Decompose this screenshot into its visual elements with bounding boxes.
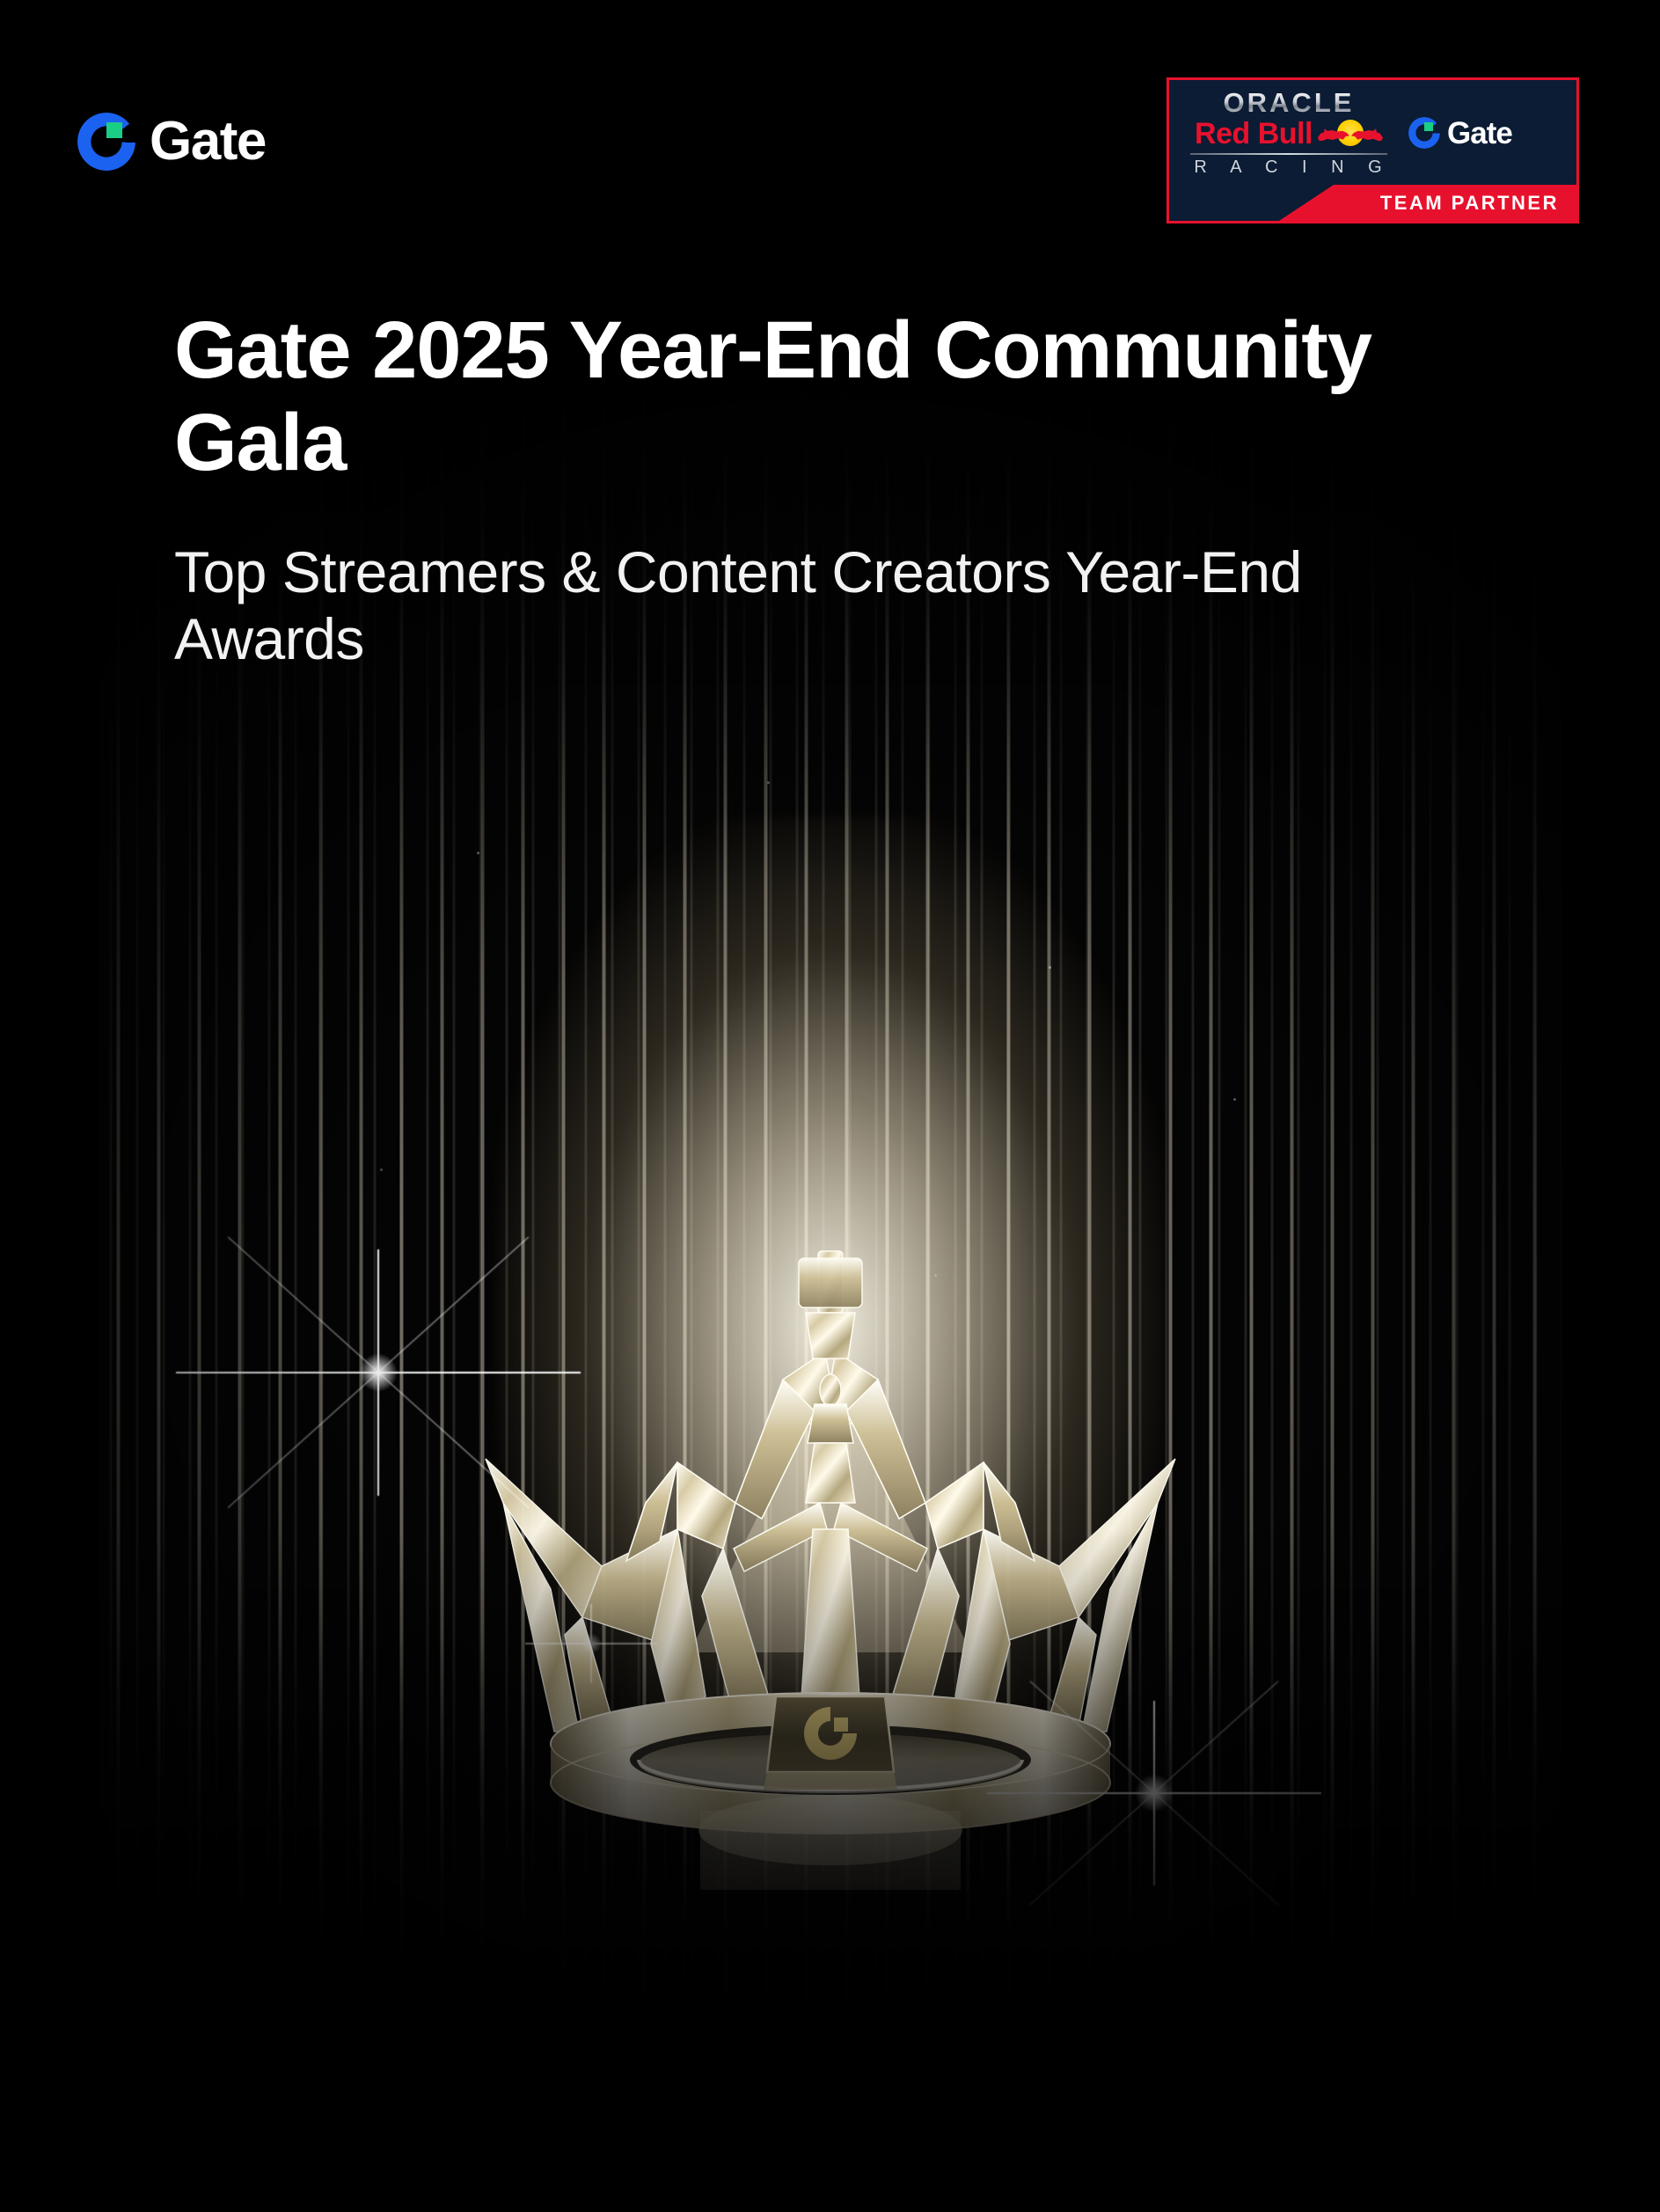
oracle-wordmark: ORACLE [1183,89,1394,118]
badge-gate-name: Gate [1447,118,1512,149]
top-bar: Gate ORACLE Red Bull R A C I N G Gate [0,0,1660,233]
gate-logo-icon [1408,117,1440,149]
badge-gate-lockup: Gate [1408,117,1512,149]
red-bull-wordmark: Red Bull [1195,119,1313,149]
red-bull-team-partner-badge[interactable]: ORACLE Red Bull R A C I N G Gate TEAM PA… [1166,77,1579,223]
article-header: Gate 2025 Year-End Community Gala Top St… [99,236,1561,673]
badge-divider [1190,153,1387,155]
brand-name: Gate [150,114,266,169]
page-subtitle: Top Streamers & Content Creators Year-En… [174,538,1486,673]
gate-logo-icon [77,113,135,171]
red-bull-racing-lockup: ORACLE Red Bull R A C I N G [1183,89,1394,178]
article-card: Gate 2025 Year-End Community Gala Top St… [99,236,1561,2033]
red-bull-bulls-icon [1318,121,1383,147]
racing-wordmark: R A C I N G [1183,157,1394,178]
page-root: Gate ORACLE Red Bull R A C I N G Gate [0,0,1660,2212]
team-partner-label: TEAM PARTNER [1380,192,1559,215]
brand-logo[interactable]: Gate [77,113,266,171]
team-partner-ribbon: TEAM PARTNER [1279,185,1576,221]
page-title: Gate 2025 Year-End Community Gala [174,304,1486,489]
